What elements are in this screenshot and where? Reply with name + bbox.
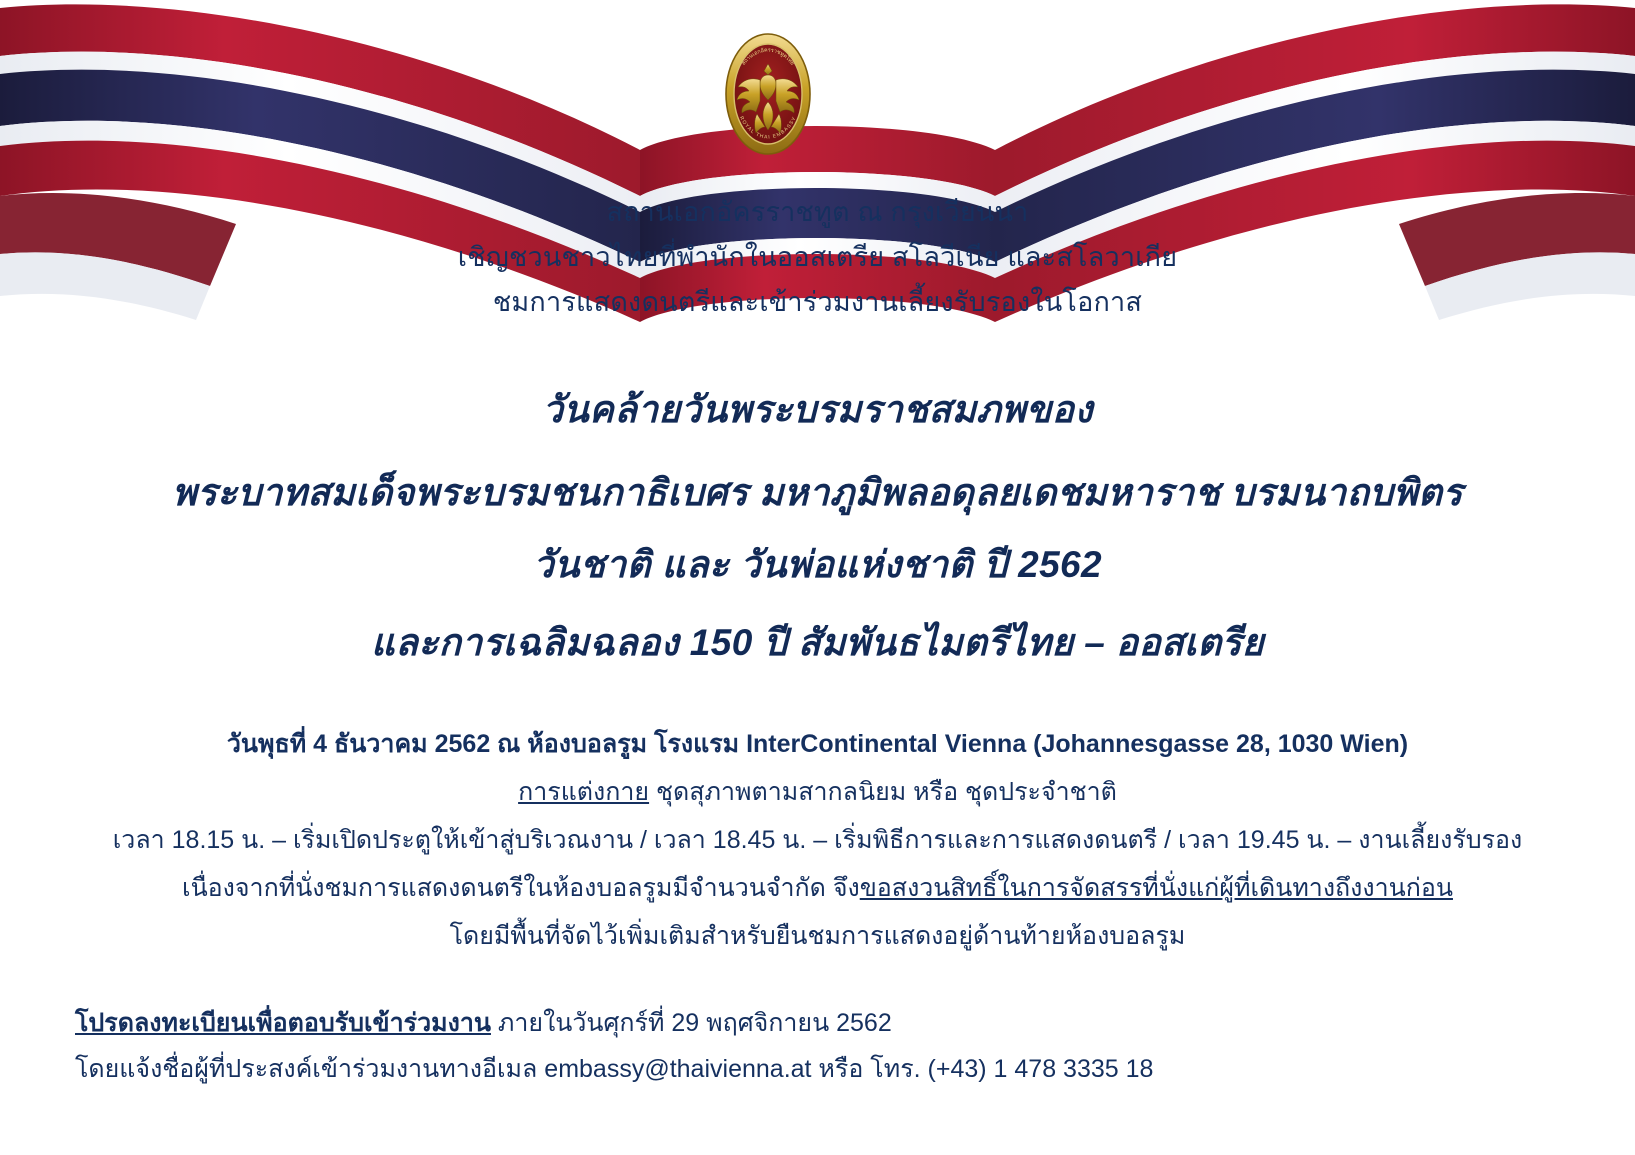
intro-line-3: ชมการแสดงดนตรีและเข้าร่วมงานเลี้ยงรับรอง…	[0, 280, 1635, 325]
headline-line-1: วันคล้ายวันพระบรมราชสมภพของ	[0, 380, 1635, 439]
intro-line-2: เชิญชวนชาวไทยที่พำนักในออสเตรีย สโลวีเนี…	[0, 235, 1635, 280]
contact-email[interactable]: embassy@thaivienna.at	[544, 1055, 811, 1083]
intro-block: สถานเอกอัครราชทูต ณ กรุงเวียนนา เชิญชวนช…	[0, 190, 1635, 325]
seating-note-emphasis: ขอสงวนสิทธิ์ในการจัดสรรที่นั่งแก่ผู้ที่เ…	[860, 874, 1453, 902]
seating-note-line: เนื่องจากที่นั่งชมการแสดงดนตรีในห้องบอลร…	[0, 868, 1635, 908]
invitation-body: สถานเอกอัครราชทูต ณ กรุงเวียนนา เชิญชวนช…	[0, 0, 1635, 1155]
registration-contact-line: โดยแจ้งชื่อผู้ที่ประสงค์เข้าร่วมงานทางอี…	[75, 1046, 1475, 1092]
dress-code-label: การแต่งกาย	[518, 778, 649, 806]
dress-code-value: ชุดสุภาพตามสากลนิยม หรือ ชุดประจำชาติ	[656, 778, 1117, 806]
contact-middle: หรือ โทร.	[811, 1055, 927, 1083]
headline-line-3: วันชาติ และ วันพ่อแห่งชาติ ปี 2562	[0, 535, 1635, 594]
standing-area-note: โดยมีพื้นที่จัดไว้เพิ่มเติมสำหรับยืนชมกา…	[0, 916, 1635, 956]
registration-cta-line: โปรดลงทะเบียนเพื่อตอบรับเข้าร่วมงาน ภายใ…	[75, 1000, 1475, 1046]
registration-block: โปรดลงทะเบียนเพื่อตอบรับเข้าร่วมงาน ภายใ…	[75, 1000, 1475, 1092]
dress-code-line: การแต่งกาย ชุดสุภาพตามสากลนิยม หรือ ชุดป…	[0, 772, 1635, 812]
seating-note-prefix: เนื่องจากที่นั่งชมการแสดงดนตรีในห้องบอลร…	[182, 874, 860, 902]
intro-line-1: สถานเอกอัครราชทูต ณ กรุงเวียนนา	[0, 190, 1635, 235]
headline-line-4: และการเฉลิมฉลอง 150 ปี สัมพันธไมตรีไทย –…	[0, 613, 1635, 672]
contact-phone[interactable]: (+43) 1 478 3335 18	[928, 1055, 1154, 1083]
event-venue-line: วันพุธที่ 4 ธันวาคม 2562 ณ ห้องบอลรูม โร…	[0, 724, 1635, 764]
registration-deadline: ภายในวันศุกร์ที่ 29 พฤศจิกายน 2562	[491, 1009, 892, 1037]
headline-line-2: พระบาทสมเด็จพระบรมชนกาธิเบศร มหาภูมิพลอด…	[0, 463, 1635, 522]
schedule-line: เวลา 18.15 น. – เริ่มเปิดประตูให้เข้าสู่…	[0, 820, 1635, 860]
registration-cta[interactable]: โปรดลงทะเบียนเพื่อตอบรับเข้าร่วมงาน	[75, 1009, 491, 1037]
contact-prefix: โดยแจ้งชื่อผู้ที่ประสงค์เข้าร่วมงานทางอี…	[75, 1055, 544, 1083]
